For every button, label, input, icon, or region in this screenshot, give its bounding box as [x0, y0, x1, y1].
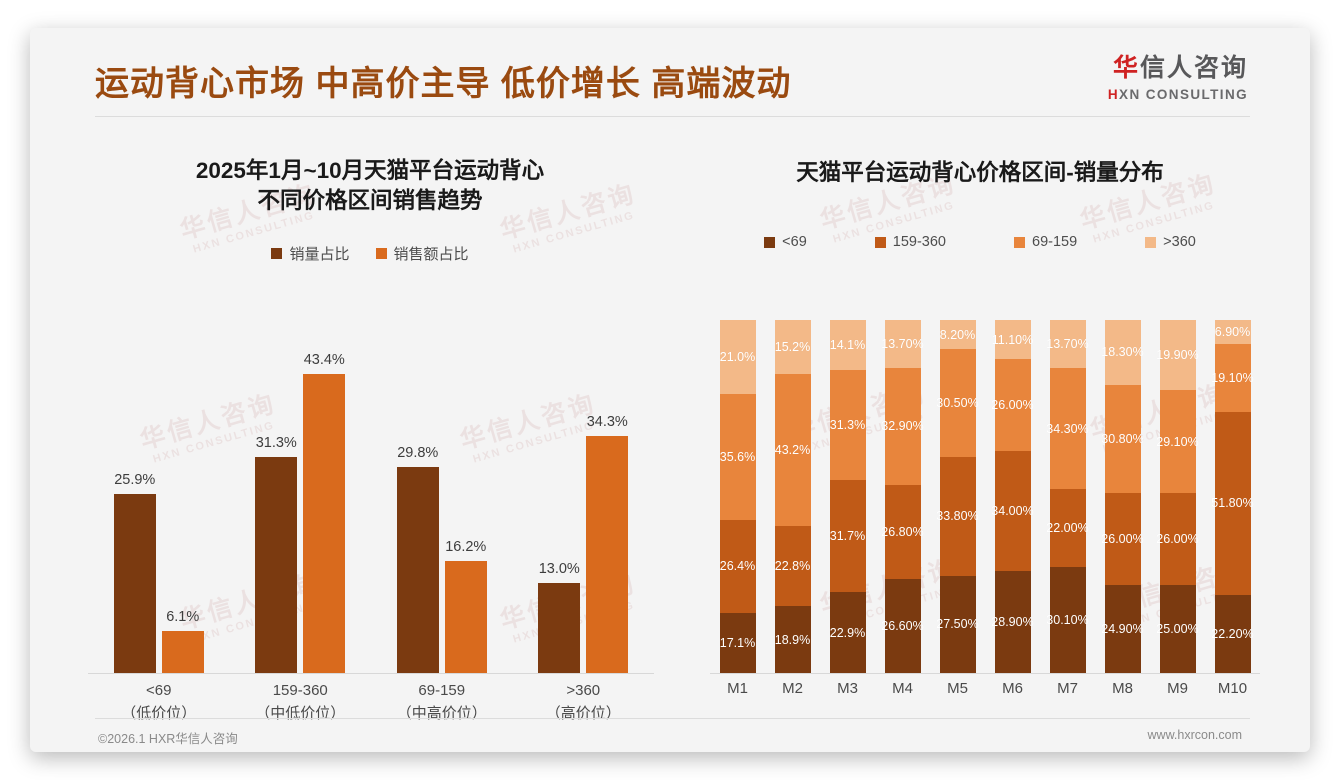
- stacked-bar-segment[interactable]: 30.10%: [1050, 567, 1086, 673]
- legend-swatch-icon: [376, 248, 387, 259]
- bar-value-label: 43.4%: [304, 352, 345, 368]
- legend-label: 69-159: [1032, 234, 1077, 250]
- stacked-bar-segment[interactable]: 27.50%: [940, 576, 976, 673]
- page-title: 运动背心市场 中高价主导 低价增长 高端波动: [95, 56, 791, 105]
- legend-item[interactable]: >360: [1145, 234, 1196, 250]
- segment-value-label: 18.30%: [1101, 345, 1143, 359]
- segment-value-label: 43.2%: [775, 443, 810, 457]
- stacked-bar-segment[interactable]: 26.4%: [720, 520, 756, 613]
- segment-value-label: 26.60%: [881, 619, 923, 633]
- left-chart-plot: 25.9%6.1%31.3%43.4%29.8%16.2%13.0%34.3%: [88, 328, 654, 673]
- segment-value-label: 22.20%: [1211, 627, 1253, 641]
- logo-english-red: H: [1108, 87, 1119, 102]
- stacked-bar[interactable]: 30.10%22.00%34.30%13.70%: [1050, 320, 1086, 673]
- segment-value-label: 15.2%: [775, 340, 810, 354]
- bar-value-label: 34.3%: [587, 414, 628, 430]
- bar-value-label: 13.0%: [539, 561, 580, 577]
- category-label-main: >360: [546, 680, 621, 703]
- footer-copyright: ©2026.1 HXR华信人咨询: [98, 728, 238, 747]
- stacked-bar[interactable]: 17.1%26.4%35.6%21.0%: [720, 320, 756, 673]
- right-chart-plot: 17.1%26.4%35.6%21.0%18.9%22.8%43.2%15.2%…: [710, 320, 1260, 673]
- segment-value-label: 26.00%: [991, 398, 1033, 412]
- left-chart-panel: 2025年1月~10月天猫平台运动背心 不同价格区间销售趋势 销量占比销售额占比…: [70, 128, 670, 708]
- segment-value-label: 35.6%: [720, 450, 755, 464]
- stacked-bar-segment[interactable]: 6.90%: [1215, 320, 1251, 344]
- bar[interactable]: 16.2%: [445, 328, 487, 673]
- stacked-bar[interactable]: 28.90%34.00%26.00%11.10%: [995, 320, 1031, 673]
- stacked-bar-segment[interactable]: 34.30%: [1050, 368, 1086, 489]
- stacked-bar[interactable]: 18.9%22.8%43.2%15.2%: [775, 320, 811, 673]
- left-chart-title-line1: 2025年1月~10月天猫平台运动背心: [70, 156, 670, 186]
- left-chart-title: 2025年1月~10月天猫平台运动背心 不同价格区间销售趋势: [70, 156, 670, 217]
- logo-english-gray: XN CONSULTING: [1119, 87, 1248, 102]
- stacked-bar-segment[interactable]: 35.6%: [720, 394, 756, 520]
- stacked-bar-segment[interactable]: 22.00%: [1050, 489, 1086, 567]
- bar-value-label: 16.2%: [445, 539, 486, 555]
- left-chart-legend: 销量占比销售额占比: [70, 243, 670, 264]
- legend-item[interactable]: 销售额占比: [376, 243, 469, 264]
- segment-value-label: 14.1%: [830, 338, 865, 352]
- stacked-bar-segment[interactable]: 28.90%: [995, 571, 1031, 673]
- legend-swatch-icon: [875, 237, 886, 248]
- legend-item[interactable]: <69: [764, 234, 807, 250]
- segment-value-label: 34.30%: [1046, 422, 1088, 436]
- category-label: M3: [837, 680, 858, 697]
- stacked-bar-segment[interactable]: 30.80%: [1105, 385, 1141, 494]
- category-label: M9: [1167, 680, 1188, 697]
- stacked-bar-segment[interactable]: 31.7%: [830, 480, 866, 592]
- legend-item[interactable]: 159-360: [875, 234, 946, 250]
- category-label: M7: [1057, 680, 1078, 697]
- bar-value-label: 29.8%: [397, 445, 438, 461]
- segment-value-label: 51.80%: [1211, 496, 1253, 510]
- stacked-bar-segment[interactable]: 11.10%: [995, 320, 1031, 359]
- segment-value-label: 26.00%: [1101, 532, 1143, 546]
- segment-value-label: 33.80%: [936, 509, 978, 523]
- legend-label: >360: [1163, 234, 1196, 250]
- footer-divider: [95, 718, 1250, 719]
- segment-value-label: 25.00%: [1156, 622, 1198, 636]
- bar[interactable]: 34.3%: [586, 328, 628, 673]
- stacked-bar-segment[interactable]: 43.2%: [775, 374, 811, 526]
- stacked-bar-segment[interactable]: 32.90%: [885, 368, 921, 484]
- right-chart-title: 天猫平台运动背心价格区间-销量分布: [680, 158, 1280, 188]
- segment-value-label: 19.90%: [1156, 348, 1198, 362]
- category-label-sub: （中高价位）: [397, 703, 487, 726]
- stacked-bar-segment[interactable]: 17.1%: [720, 613, 756, 673]
- stacked-bar-segment[interactable]: 22.20%: [1215, 595, 1251, 673]
- segment-value-label: 34.00%: [991, 504, 1033, 518]
- bar[interactable]: 25.9%: [114, 328, 156, 673]
- stacked-bar-segment[interactable]: 30.50%: [940, 349, 976, 457]
- segment-value-label: 8.20%: [940, 328, 975, 342]
- segment-value-label: 32.90%: [881, 419, 923, 433]
- stacked-bar-segment[interactable]: 26.00%: [1160, 493, 1196, 585]
- stacked-bar[interactable]: 26.60%26.80%32.90%13.70%: [885, 320, 921, 673]
- right-chart-axis-line: [710, 673, 1260, 674]
- segment-value-label: 28.90%: [991, 615, 1033, 629]
- stacked-bar-segment[interactable]: 34.00%: [995, 451, 1031, 571]
- segment-value-label: 11.10%: [992, 333, 1033, 347]
- logo-english: HXN CONSULTING: [1108, 88, 1248, 102]
- bar-fill: [586, 436, 628, 673]
- segment-value-label: 18.9%: [775, 633, 810, 647]
- segment-value-label: 26.80%: [881, 525, 923, 539]
- bar-fill: [303, 374, 345, 673]
- header-divider: [95, 116, 1250, 117]
- legend-item[interactable]: 69-159: [1014, 234, 1077, 250]
- legend-label: 159-360: [893, 234, 946, 250]
- category-label: M5: [947, 680, 968, 697]
- legend-label: 销量占比: [289, 243, 349, 264]
- category-label-main: <69: [121, 680, 196, 703]
- logo-chinese: 华信人咨询: [1108, 56, 1248, 81]
- bar-fill: [114, 494, 156, 673]
- category-label-main: 69-159: [397, 680, 487, 703]
- bar-fill: [538, 583, 580, 673]
- segment-value-label: 29.10%: [1156, 435, 1198, 449]
- footer-website: www.hxrcon.com: [1148, 728, 1242, 742]
- segment-value-label: 26.00%: [1156, 532, 1198, 546]
- bar-fill: [397, 467, 439, 673]
- stacked-bar-segment[interactable]: 14.1%: [830, 320, 866, 370]
- legend-item[interactable]: 销量占比: [271, 243, 349, 264]
- category-label-main: 159-360: [255, 680, 345, 703]
- legend-label: 销售额占比: [394, 243, 469, 264]
- logo-chinese-gray: 信人咨询: [1140, 54, 1248, 82]
- stacked-bar-segment[interactable]: 31.3%: [830, 370, 866, 480]
- header: 运动背心市场 中高价主导 低价增长 高端波动 华信人咨询 HXN CONSULT…: [30, 28, 1310, 120]
- bar[interactable]: 29.8%: [397, 328, 439, 673]
- stacked-bar[interactable]: 22.9%31.7%31.3%14.1%: [830, 320, 866, 673]
- category-label: M1: [727, 680, 748, 697]
- stacked-bar-segment[interactable]: 26.60%: [885, 579, 921, 673]
- stacked-bar-segment[interactable]: 19.10%: [1215, 344, 1251, 411]
- logo-chinese-red: 华: [1113, 54, 1140, 82]
- stacked-bar-segment[interactable]: 21.0%: [720, 320, 756, 394]
- bar-fill: [445, 561, 487, 673]
- segment-value-label: 30.10%: [1046, 613, 1088, 627]
- segment-value-label: 19.10%: [1211, 371, 1253, 385]
- legend-swatch-icon: [1014, 237, 1025, 248]
- legend-swatch-icon: [1145, 237, 1156, 248]
- segment-value-label: 6.90%: [1215, 325, 1250, 339]
- stacked-bar-segment[interactable]: 26.00%: [1105, 493, 1141, 585]
- segment-value-label: 22.9%: [830, 626, 865, 640]
- category-label: M2: [782, 680, 803, 697]
- stacked-bar-segment[interactable]: 26.80%: [885, 485, 921, 580]
- stacked-bar-segment[interactable]: 13.70%: [1050, 320, 1086, 368]
- category-label: M4: [892, 680, 913, 697]
- segment-value-label: 13.70%: [1046, 337, 1088, 351]
- segment-value-label: 31.3%: [830, 418, 865, 432]
- bar[interactable]: 43.4%: [303, 328, 345, 673]
- stacked-bar[interactable]: 27.50%33.80%30.50%8.20%: [940, 320, 976, 673]
- stacked-bar-segment[interactable]: 15.2%: [775, 320, 811, 374]
- segment-value-label: 22.8%: [775, 559, 810, 573]
- stacked-bar-segment[interactable]: 13.70%: [885, 320, 921, 368]
- segment-value-label: 30.80%: [1101, 432, 1143, 446]
- stacked-bar-segment[interactable]: 22.9%: [830, 592, 866, 673]
- stacked-bar-segment[interactable]: 19.90%: [1160, 320, 1196, 390]
- slide-card: 运动背心市场 中高价主导 低价增长 高端波动 华信人咨询 HXN CONSULT…: [30, 28, 1310, 752]
- bar-value-label: 6.1%: [166, 609, 199, 625]
- stacked-bar-segment[interactable]: 25.00%: [1160, 585, 1196, 673]
- legend-label: <69: [782, 234, 807, 250]
- bar[interactable]: 6.1%: [162, 328, 204, 673]
- bar[interactable]: 13.0%: [538, 328, 580, 673]
- segment-value-label: 30.50%: [936, 396, 978, 410]
- stacked-bar-segment[interactable]: 51.80%: [1215, 412, 1251, 595]
- stacked-bar-segment[interactable]: 26.00%: [995, 359, 1031, 451]
- stacked-bar-segment[interactable]: 18.9%: [775, 606, 811, 673]
- stacked-bar-segment[interactable]: 24.90%: [1105, 585, 1141, 673]
- bar-value-label: 25.9%: [114, 472, 155, 488]
- segment-value-label: 31.7%: [830, 529, 865, 543]
- segment-value-label: 17.1%: [720, 636, 755, 650]
- right-chart-category-labels: M1M2M3M4M5M6M7M8M9M10: [710, 680, 1260, 710]
- stacked-bar-segment[interactable]: 18.30%: [1105, 320, 1141, 385]
- right-chart-legend: <69159-36069-159>360: [680, 234, 1280, 250]
- bar-fill: [162, 631, 204, 673]
- stacked-bar-segment[interactable]: 8.20%: [940, 320, 976, 349]
- stacked-bar-segment[interactable]: 29.10%: [1160, 390, 1196, 493]
- legend-swatch-icon: [271, 248, 282, 259]
- left-chart-axis-line: [88, 673, 654, 674]
- segment-value-label: 13.70%: [881, 337, 923, 351]
- category-label-sub: （低价位）: [121, 703, 196, 726]
- left-chart-title-line2: 不同价格区间销售趋势: [70, 186, 670, 216]
- stacked-bar[interactable]: 24.90%26.00%30.80%18.30%: [1105, 320, 1141, 673]
- segment-value-label: 27.50%: [936, 617, 978, 631]
- stacked-bar[interactable]: 25.00%26.00%29.10%19.90%: [1160, 320, 1196, 673]
- category-label-sub: （中低价位）: [255, 703, 345, 726]
- category-label: M8: [1112, 680, 1133, 697]
- segment-value-label: 21.0%: [720, 350, 755, 364]
- right-chart-title-line1: 天猫平台运动背心价格区间-销量分布: [680, 158, 1280, 188]
- stacked-bar-segment[interactable]: 33.80%: [940, 457, 976, 576]
- segment-value-label: 22.00%: [1046, 521, 1088, 535]
- company-logo: 华信人咨询 HXN CONSULTING: [1108, 56, 1248, 102]
- stacked-bar-segment[interactable]: 22.8%: [775, 526, 811, 606]
- legend-swatch-icon: [764, 237, 775, 248]
- category-label: M10: [1218, 680, 1247, 697]
- category-label-sub: （高价位）: [546, 703, 621, 726]
- bar[interactable]: 31.3%: [255, 328, 297, 673]
- stacked-bar[interactable]: 22.20%51.80%19.10%6.90%: [1215, 320, 1251, 673]
- bar-fill: [255, 457, 297, 673]
- right-chart-panel: 天猫平台运动背心价格区间-销量分布 <69159-36069-159>360 1…: [680, 128, 1280, 708]
- segment-value-label: 24.90%: [1101, 622, 1143, 636]
- bar-value-label: 31.3%: [256, 435, 297, 451]
- segment-value-label: 26.4%: [720, 559, 755, 573]
- category-label: M6: [1002, 680, 1023, 697]
